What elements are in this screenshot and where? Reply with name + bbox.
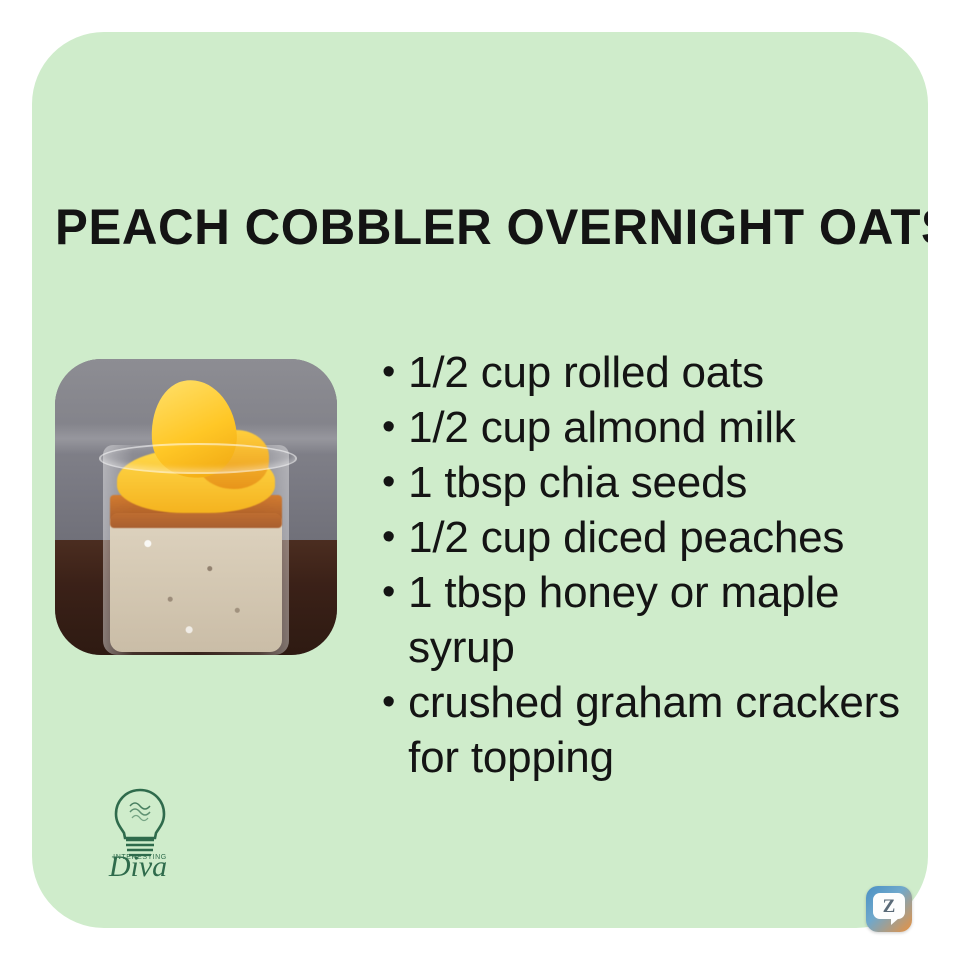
list-item: • 1 tbsp chia seeds [382,455,902,510]
bullet-icon: • [382,565,395,620]
page-title: PEACH COBBLER OVERNIGHT OATS [55,198,902,256]
ingredient-text: 1/2 cup rolled oats [408,345,902,400]
bullet-icon: • [382,455,395,510]
list-item: • 1 tbsp honey or maple syrup [382,565,902,675]
photo-jar-rim [99,443,298,474]
bullet-icon: • [382,675,395,730]
list-item: • 1/2 cup almond milk [382,400,902,455]
list-item: • 1/2 cup rolled oats [382,345,902,400]
lightbulb-icon [116,790,164,838]
ingredients-list: • 1/2 cup rolled oats • 1/2 cup almond m… [382,345,902,785]
ingredient-text: crushed graham crackers for topping [408,675,902,785]
ingredient-text: 1 tbsp honey or maple syrup [408,565,902,675]
photo-oats-layer [110,513,282,652]
badge-letter: Z [873,893,905,919]
recipe-card: PEACH COBBLER OVERNIGHT OATS • 1/2 cup r… [32,32,928,928]
bullet-icon: • [382,400,395,455]
recipe-card-canvas: PEACH COBBLER OVERNIGHT OATS • 1/2 cup r… [0,0,960,960]
ingredient-text: 1/2 cup almond milk [408,400,902,455]
bullet-icon: • [382,510,395,565]
list-item: • crushed graham crackers for topping [382,675,902,785]
bullet-icon: • [382,345,395,400]
logo-script-text: Diva [108,850,167,880]
ingredient-text: 1 tbsp chia seeds [408,455,902,510]
ingredient-text: 1/2 cup diced peaches [408,510,902,565]
app-watermark-badge[interactable]: Z [866,886,912,932]
photo-scene [55,359,337,655]
brand-logo: INTERESTING Diva [88,780,192,880]
list-item: • 1/2 cup diced peaches [382,510,902,565]
recipe-photo [55,359,337,655]
